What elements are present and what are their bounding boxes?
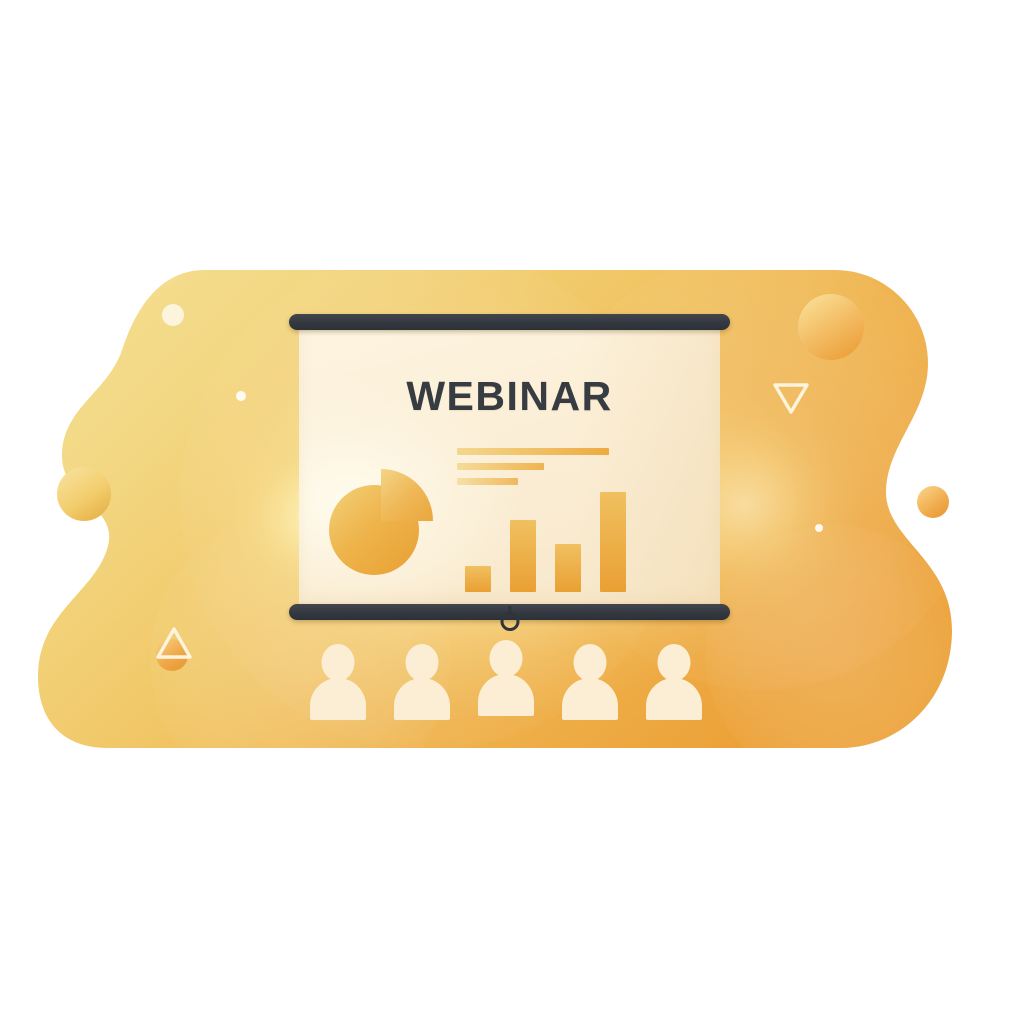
audience-row — [0, 636, 1024, 746]
audience-person — [478, 640, 534, 716]
pie-chart-graphic — [324, 448, 436, 580]
person-body — [478, 674, 534, 716]
bar-chart — [457, 442, 695, 592]
bar-chart-bars — [465, 488, 641, 592]
sphere-left-edge-icon — [57, 467, 111, 521]
bar-3 — [555, 544, 581, 592]
text-line-2 — [457, 463, 544, 470]
projector-screen: WEBINAR — [289, 314, 730, 620]
person-body — [646, 678, 702, 720]
sphere-right-edge-icon — [917, 486, 949, 518]
pull-handle-ring[interactable] — [500, 612, 519, 631]
bar-1 — [465, 566, 491, 592]
dot-white-small-left-icon — [236, 391, 246, 401]
bar-4 — [600, 492, 626, 592]
illustration-canvas: WEBINAR — [0, 0, 1024, 1024]
audience-person — [394, 644, 450, 720]
bar-2 — [510, 520, 536, 592]
slide-charts — [299, 442, 720, 597]
person-body — [562, 678, 618, 720]
person-head — [574, 644, 607, 681]
person-body — [394, 678, 450, 720]
screen-top-bar — [289, 314, 730, 330]
person-head — [490, 640, 523, 677]
audience-person — [310, 644, 366, 720]
dot-white-right-icon — [815, 524, 823, 532]
page-title: WEBINAR — [299, 373, 720, 420]
text-line-3 — [457, 478, 518, 485]
pie-slice-minor — [381, 469, 433, 521]
audience-person — [562, 644, 618, 720]
audience-person — [646, 644, 702, 720]
person-head — [322, 644, 355, 681]
text-line-1 — [457, 448, 609, 455]
person-head — [658, 644, 691, 681]
screen-canvas: WEBINAR — [299, 327, 720, 607]
person-body — [310, 678, 366, 720]
sphere-top-right-icon — [798, 294, 864, 360]
person-head — [406, 644, 439, 681]
pie-chart — [324, 448, 436, 580]
dot-white-top-left-icon — [162, 304, 184, 326]
